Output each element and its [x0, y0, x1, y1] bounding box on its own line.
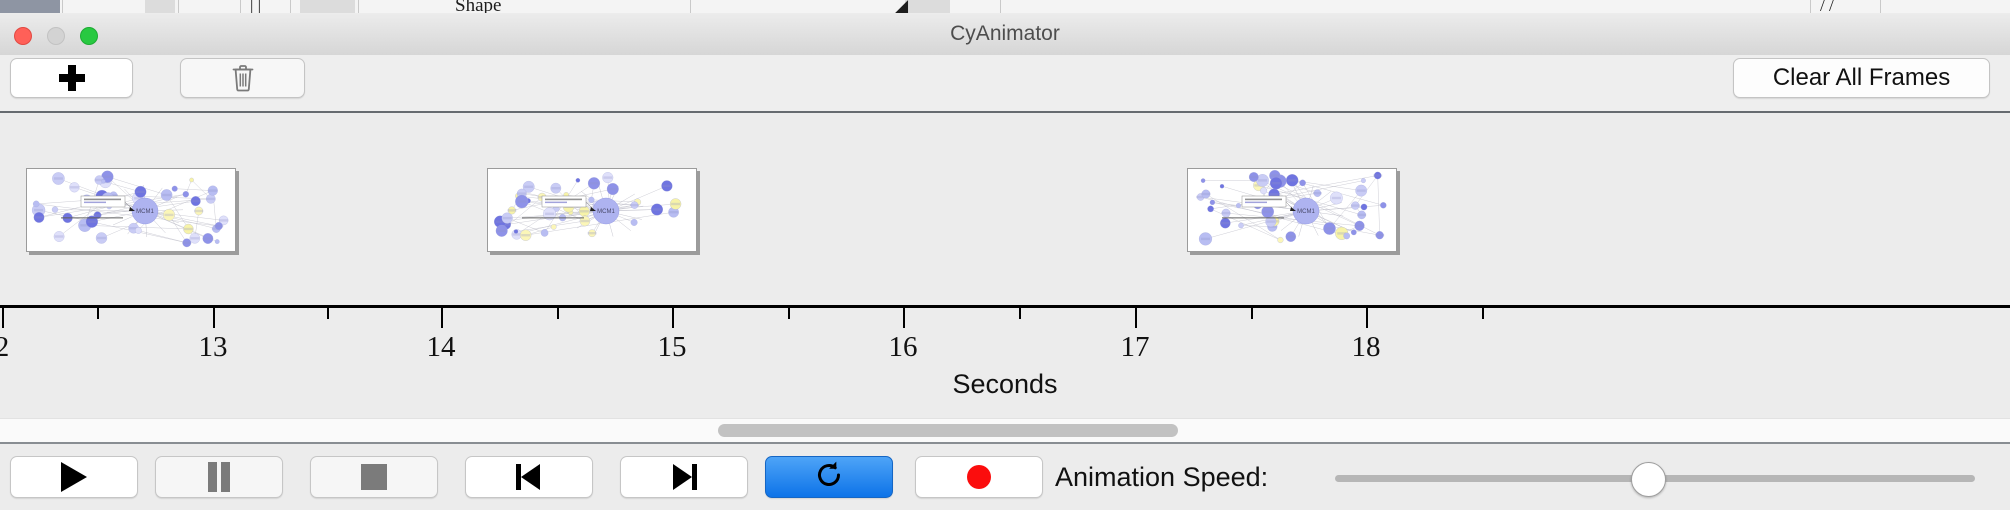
svg-text:MCM1: MCM1 — [136, 209, 154, 215]
axis-tick-minor — [97, 308, 99, 319]
axis-tick-minor — [327, 308, 329, 319]
axis-tick-major — [1366, 308, 1368, 328]
axis-tick-label: 13 — [199, 331, 228, 364]
bg-window-label: Shape — [455, 0, 501, 14]
axis-tick-label: 14 — [427, 331, 456, 364]
bg-window-glyph: ◢ — [895, 0, 908, 14]
axis-tick-label: 15 — [658, 331, 687, 364]
clear-all-frames-button[interactable]: Clear All Frames — [1733, 58, 1990, 98]
window-title: CyAnimator — [0, 13, 2010, 55]
loop-icon — [814, 460, 844, 495]
window-titlebar: CyAnimator — [0, 13, 2010, 56]
bg-divider — [290, 0, 291, 13]
svg-text:MCM1: MCM1 — [597, 209, 615, 215]
trash-icon — [231, 64, 255, 92]
record-button[interactable] — [915, 456, 1043, 498]
animation-speed-label: Animation Speed: — [1055, 444, 1268, 510]
background-window-strip: | | Shape ◢ / / — [0, 0, 2010, 14]
axis-tick-major — [2, 308, 4, 328]
toolbar: Clear All Frames — [0, 55, 2010, 113]
bg-divider — [1880, 0, 1881, 13]
plus-icon — [59, 65, 85, 91]
axis-tick-minor — [788, 308, 790, 319]
skip-forward-icon — [671, 464, 697, 490]
loop-button[interactable] — [765, 456, 893, 498]
skip-back-icon — [516, 464, 542, 490]
record-icon — [967, 465, 991, 489]
axis-tick-minor — [1251, 308, 1253, 319]
animation-speed-slider[interactable] — [1335, 444, 1975, 510]
axis-tick-label: 17 — [1121, 331, 1150, 364]
bg-divider — [358, 0, 359, 13]
axis-tick-label: 18 — [1352, 331, 1381, 364]
axis-tick-minor — [1019, 308, 1021, 319]
bg-window-glyph: | | — [250, 0, 261, 14]
axis-tick-minor — [1482, 308, 1484, 319]
pause-button[interactable] — [155, 456, 283, 498]
skip-back-button[interactable] — [465, 456, 593, 498]
bg-window-block — [905, 0, 950, 13]
bg-window-glyph: / / — [1820, 0, 1834, 14]
add-frame-button[interactable] — [10, 58, 133, 98]
axis-tick-major — [1135, 308, 1137, 328]
bg-divider — [178, 0, 179, 13]
bg-divider — [240, 0, 241, 13]
bg-divider — [1000, 0, 1001, 13]
bg-window-tab — [0, 0, 60, 13]
slider-thumb[interactable] — [1631, 462, 1666, 497]
bg-divider — [1810, 0, 1811, 13]
bg-window-block — [145, 0, 175, 13]
play-button[interactable] — [10, 456, 138, 498]
stop-icon — [361, 464, 387, 490]
axis-tick-major — [672, 308, 674, 328]
svg-text:MCM1: MCM1 — [1297, 209, 1315, 215]
scrollbar-thumb[interactable] — [718, 424, 1178, 437]
timeline-axis-line — [0, 305, 2010, 308]
axis-tick-minor — [557, 308, 559, 319]
timeline-scrollbar[interactable] — [0, 418, 2010, 444]
stop-button[interactable] — [310, 456, 438, 498]
timeline-frame-thumbnail[interactable]: MCM1 — [487, 168, 697, 252]
axis-tick-major — [213, 308, 215, 328]
axis-tick-major — [903, 308, 905, 328]
timeline-panel[interactable]: MCM1MCM1MCM1 2131415161718 Seconds — [0, 113, 2010, 418]
bg-divider — [690, 0, 691, 13]
pause-icon — [206, 462, 232, 492]
bg-window-block — [300, 0, 355, 13]
play-icon — [61, 462, 87, 492]
bg-divider — [62, 0, 63, 13]
axis-title: Seconds — [0, 369, 2010, 400]
skip-forward-button[interactable] — [620, 456, 748, 498]
axis-tick-label: 16 — [889, 331, 918, 364]
axis-tick-major — [441, 308, 443, 328]
timeline-frame-thumbnail[interactable]: MCM1 — [26, 168, 236, 252]
axis-tick-label: 2 — [0, 331, 9, 364]
timeline-frame-thumbnail[interactable]: MCM1 — [1187, 168, 1397, 252]
delete-frame-button[interactable] — [180, 58, 305, 98]
